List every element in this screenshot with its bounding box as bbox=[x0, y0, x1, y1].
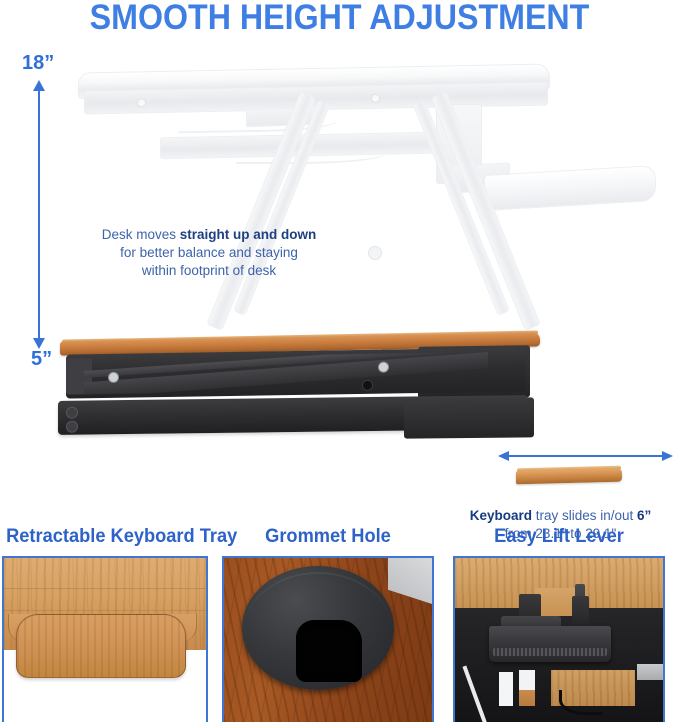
background-gap bbox=[499, 672, 513, 706]
max-height-label: 18” bbox=[22, 52, 54, 75]
height-range-measure: 18” 5” bbox=[22, 52, 82, 382]
panel-image bbox=[453, 556, 665, 722]
panel-label: Grommet Hole bbox=[226, 526, 430, 548]
caption-line1-bold: straight up and down bbox=[180, 227, 317, 242]
collapsed-scissor-mechanism bbox=[66, 347, 526, 398]
panel-grommet-hole: Grommet Hole bbox=[222, 526, 434, 722]
panel-label: Retractable Keyboard Tray bbox=[6, 526, 204, 548]
caption-line1-prefix: Desk moves bbox=[102, 227, 180, 242]
panel-easy-lift-lever: Easy Lift Lever bbox=[453, 526, 665, 722]
metal-rail bbox=[637, 664, 663, 680]
movement-caption: Desk moves straight up and down for bett… bbox=[84, 226, 334, 280]
panel-image bbox=[2, 556, 208, 722]
keyboard-slide-measure bbox=[494, 455, 679, 505]
lift-lever-handle bbox=[489, 626, 611, 662]
screw-icon bbox=[137, 98, 146, 107]
lever-pin-base bbox=[572, 596, 589, 630]
wood-grain-seam bbox=[4, 610, 206, 611]
keyboard-caption-mid: tray slides in/out bbox=[532, 508, 637, 523]
keyboard-caption-bold-start: Keyboard bbox=[470, 508, 532, 523]
caption-line2: for better balance and staying bbox=[120, 245, 298, 260]
lever-grip-ridges bbox=[493, 648, 607, 656]
panel-label: Easy Lift Lever bbox=[457, 526, 661, 548]
feature-panels: Retractable Keyboard Tray Grommet Hole E… bbox=[0, 526, 679, 722]
page-title: SMOOTH HEIGHT ADJUSTMENT bbox=[27, 0, 652, 38]
scissor-pivot-bolt-icon bbox=[368, 246, 382, 260]
background-gap bbox=[519, 670, 535, 706]
panel-retractable-keyboard-tray: Retractable Keyboard Tray bbox=[2, 526, 208, 722]
scissor-leg-right bbox=[431, 91, 541, 331]
mechanism-diagonal-arms bbox=[84, 352, 488, 394]
grommet-opening bbox=[296, 620, 362, 682]
caption-line3: within footprint of desk bbox=[142, 263, 276, 278]
retractable-tray-panel bbox=[16, 614, 186, 678]
arrow-right-icon bbox=[662, 451, 673, 461]
min-height-label: 5” bbox=[31, 348, 52, 371]
wood-grain-seam bbox=[4, 588, 206, 589]
product-illustration: 18” 5” Desk moves straight up and down f… bbox=[0, 46, 679, 516]
panel-image bbox=[222, 556, 434, 722]
screw-icon bbox=[371, 94, 380, 103]
keyboard-caption-bold-end: 6” bbox=[637, 508, 651, 523]
measure-line bbox=[38, 88, 40, 346]
measure-line bbox=[508, 455, 666, 457]
keyboard-tray-housing bbox=[404, 397, 534, 438]
bolt-icon bbox=[66, 407, 78, 419]
bolt-icon bbox=[66, 421, 78, 433]
